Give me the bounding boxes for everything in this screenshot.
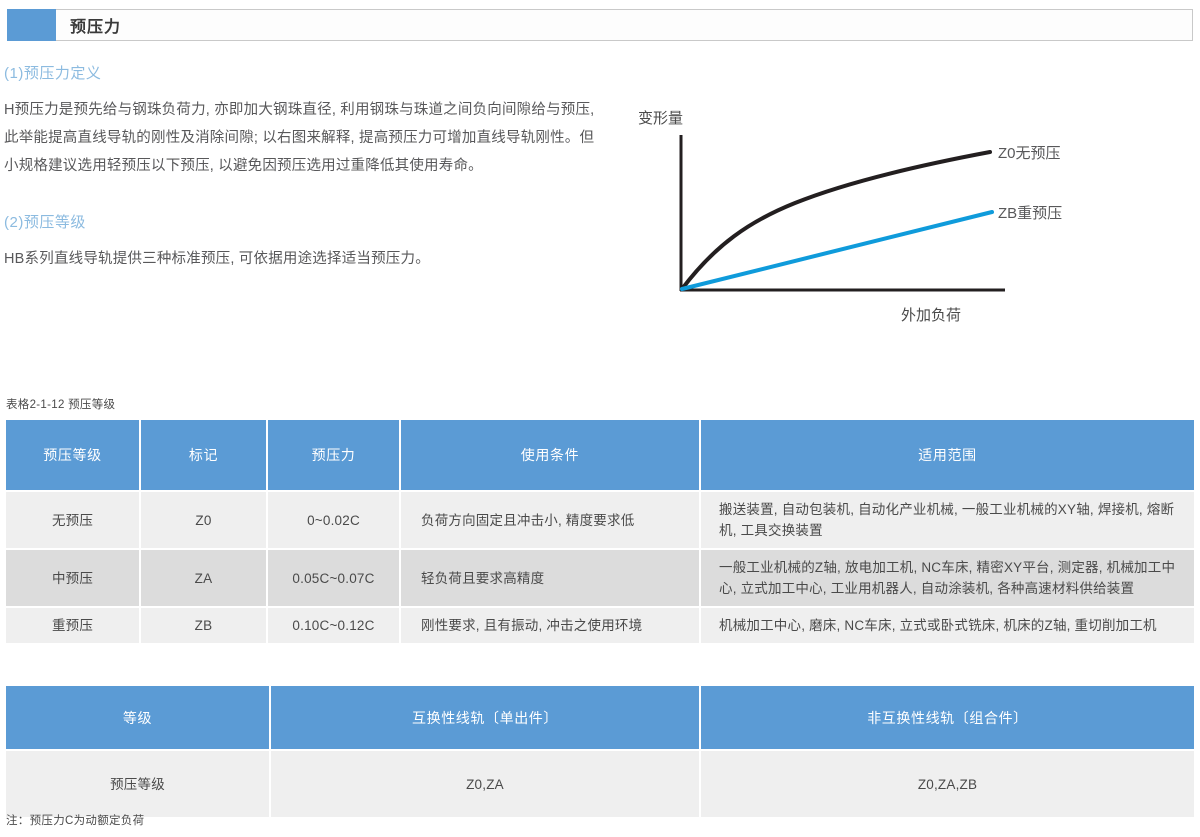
page-header: 预压力	[7, 9, 1193, 41]
cell-application: 一般工业机械的Z轴, 放电加工机, NC车床, 精密XY平台, 测定器, 机械加…	[700, 549, 1194, 607]
table-row: 重预压 ZB 0.10C~0.12C 刚性要求, 且有振动, 冲击之使用环境 机…	[6, 607, 1194, 643]
column-header-mark: 标记	[140, 420, 267, 491]
table-header-row: 预压等级 标记 预压力 使用条件 适用范围	[6, 420, 1194, 491]
column-header-grade: 等级	[6, 686, 270, 750]
cell-mark: ZA	[140, 549, 267, 607]
cell-condition: 刚性要求, 且有振动, 冲击之使用环境	[400, 607, 700, 643]
left-text-column: (1)预压力定义 H预压力是预先给与钢珠负荷力, 亦即加大钢珠直径, 利用钢珠与…	[4, 62, 604, 273]
pressure-grade-table: 预压等级 标记 预压力 使用条件 适用范围 无预压 Z0 0~0.02C 负荷方…	[6, 420, 1194, 643]
chart-series-z0-curve	[682, 152, 990, 289]
cell-force: 0.05C~0.07C	[267, 549, 400, 607]
cell-application: 搬送装置, 自动包装机, 自动化产业机械, 一般工业机械的XY轴, 焊接机, 熔…	[700, 491, 1194, 549]
cell-mark: Z0	[140, 491, 267, 549]
chart-series-zb-line	[682, 212, 992, 289]
interchangeability-grade-table: 等级 互换性线轨〔单出件〕 非互换性线轨〔组合件〕 预压等级 Z0,ZA Z0,…	[6, 686, 1194, 817]
cell-grade: 中预压	[6, 549, 140, 607]
page-title: 预压力	[70, 13, 121, 37]
section-heading-definition: (1)预压力定义	[4, 62, 604, 83]
cell-grade: 重预压	[6, 607, 140, 643]
cell-force: 0.10C~0.12C	[267, 607, 400, 643]
chart-y-axis-label: 变形量	[638, 110, 683, 127]
cell-force: 0~0.02C	[267, 491, 400, 549]
column-header-condition: 使用条件	[400, 420, 700, 491]
section-heading-grades: (2)预压等级	[4, 211, 604, 232]
table-row: 无预压 Z0 0~0.02C 负荷方向固定且冲击小, 精度要求低 搬送装置, 自…	[6, 491, 1194, 549]
column-header-force: 预压力	[267, 420, 400, 491]
chart-label-zb: ZB重预压	[998, 205, 1062, 222]
table-footnote: 注：预压力C为动额定负荷	[6, 812, 144, 828]
column-header-application: 适用范围	[700, 420, 1194, 491]
header-title-bar: 预压力	[56, 9, 1193, 41]
table-row: 预压等级 Z0,ZA Z0,ZA,ZB	[6, 750, 1194, 817]
table-row: 中预压 ZA 0.05C~0.07C 轻负荷且要求高精度 一般工业机械的Z轴, …	[6, 549, 1194, 607]
column-header-grade: 预压等级	[6, 420, 140, 491]
header-accent-block	[7, 9, 56, 41]
chart-label-z0: Z0无预压	[998, 145, 1061, 162]
column-header-non-interchangeable: 非互换性线轨〔组合件〕	[700, 686, 1194, 750]
cell-non-interchangeable: Z0,ZA,ZB	[700, 750, 1194, 817]
table-header-row: 等级 互换性线轨〔单出件〕 非互换性线轨〔组合件〕	[6, 686, 1194, 750]
chart-x-axis-label: 外加负荷	[901, 307, 961, 324]
cell-condition: 轻负荷且要求高精度	[400, 549, 700, 607]
section-body-definition: H预压力是预先给与钢珠负荷力, 亦即加大钢珠直径, 利用钢珠与珠道之间负向间隙给…	[4, 96, 604, 180]
preload-deformation-chart: 变形量 Z0无预压 ZB重预压 外加负荷	[620, 95, 1180, 335]
pressure-table-caption: 表格2-1-12 预压等级	[6, 396, 115, 412]
cell-condition: 负荷方向固定且冲击小, 精度要求低	[400, 491, 700, 549]
column-header-interchangeable: 互换性线轨〔单出件〕	[270, 686, 700, 750]
cell-row-label: 预压等级	[6, 750, 270, 817]
cell-application: 机械加工中心, 磨床, NC车床, 立式或卧式铣床, 机床的Z轴, 重切削加工机	[700, 607, 1194, 643]
cell-mark: ZB	[140, 607, 267, 643]
chart-svg: 变形量 Z0无预压 ZB重预压 外加负荷	[620, 95, 1180, 335]
section-body-grades: HB系列直线导轨提供三种标准预压, 可依据用途选择适当预压力。	[4, 245, 604, 273]
cell-grade: 无预压	[6, 491, 140, 549]
cell-interchangeable: Z0,ZA	[270, 750, 700, 817]
